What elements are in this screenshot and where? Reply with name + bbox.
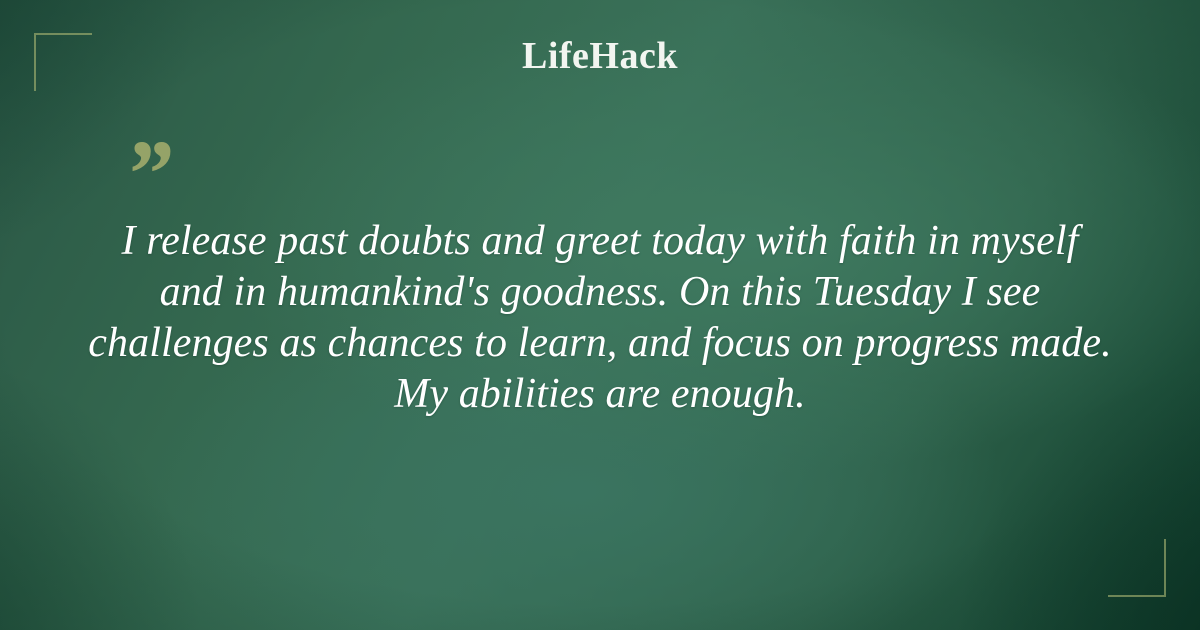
quote-line: and in humankind's goodness. On this Tue… xyxy=(160,269,1041,315)
quote-line: challenges as chances to learn, and focu… xyxy=(88,320,1111,366)
quote-text: I release past doubts and greet today wi… xyxy=(85,216,1115,420)
quote-line: My abilities are enough. xyxy=(394,371,805,417)
quote-card: LifeHack ” I release past doubts and gre… xyxy=(0,0,1200,630)
quote-block: I release past doubts and greet today wi… xyxy=(85,216,1115,420)
quote-mark-icon: ” xyxy=(124,126,172,222)
brand-logo: LifeHack xyxy=(0,36,1200,78)
corner-bracket-bottom-right-icon xyxy=(1108,539,1166,597)
quote-line: I release past doubts and greet today wi… xyxy=(122,218,1079,264)
